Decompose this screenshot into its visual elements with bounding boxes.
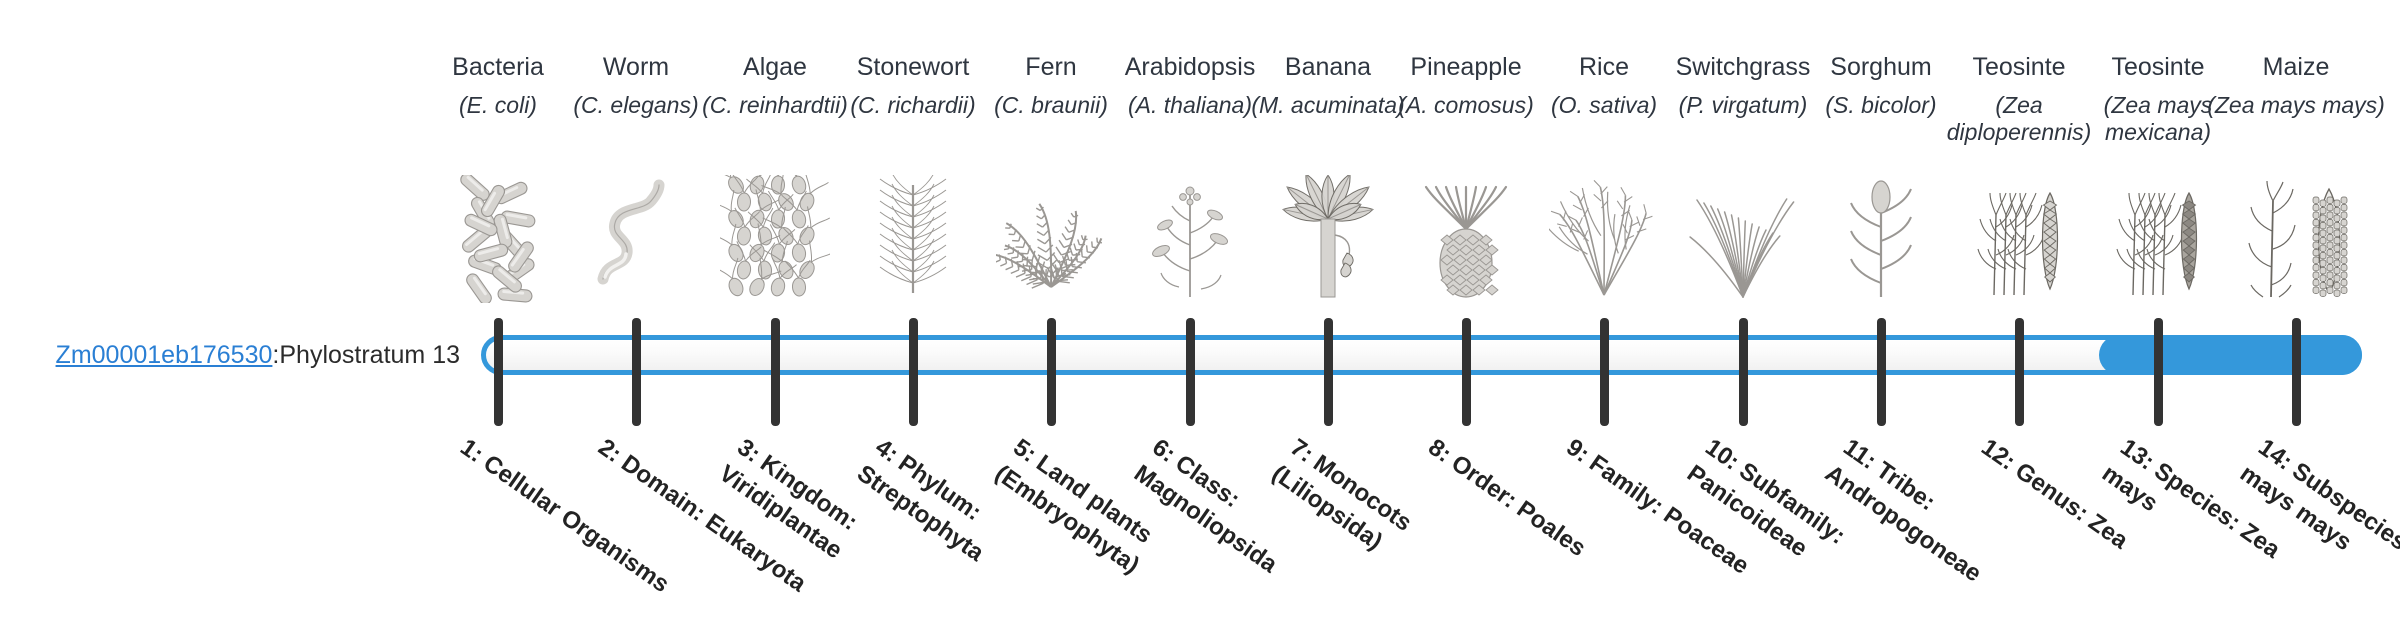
timeline-tick-7[interactable] bbox=[1324, 318, 1333, 426]
timeline-fill bbox=[2099, 335, 2362, 375]
phylostratum-value: Phylostratum 13 bbox=[279, 340, 460, 370]
timeline-tick-14[interactable] bbox=[2292, 318, 2301, 426]
timeline-tick-3[interactable] bbox=[771, 318, 780, 426]
timeline-tick-11[interactable] bbox=[1877, 318, 1886, 426]
gene-label-separator: : bbox=[272, 340, 279, 370]
timeline-track[interactable] bbox=[481, 335, 2362, 375]
timeline-tick-1[interactable] bbox=[494, 318, 503, 426]
timeline-tick-10[interactable] bbox=[1739, 318, 1748, 426]
timeline-tick-12[interactable] bbox=[2015, 318, 2024, 426]
timeline-tick-5[interactable] bbox=[1047, 318, 1056, 426]
timeline-tick-2[interactable] bbox=[632, 318, 641, 426]
timeline-tick-6[interactable] bbox=[1186, 318, 1195, 426]
gene-phylostratum-label: Zm00001eb176530: Phylostratum 13 bbox=[40, 335, 460, 375]
timeline-tick-8[interactable] bbox=[1462, 318, 1471, 426]
timeline-tick-9[interactable] bbox=[1600, 318, 1609, 426]
phylostratum-timeline-figure: Bacteria(E. coli) bbox=[0, 0, 2400, 580]
timeline-tick-13[interactable] bbox=[2154, 318, 2163, 426]
timeline-tick-4[interactable] bbox=[909, 318, 918, 426]
gene-id-link[interactable]: Zm00001eb176530 bbox=[56, 340, 273, 370]
